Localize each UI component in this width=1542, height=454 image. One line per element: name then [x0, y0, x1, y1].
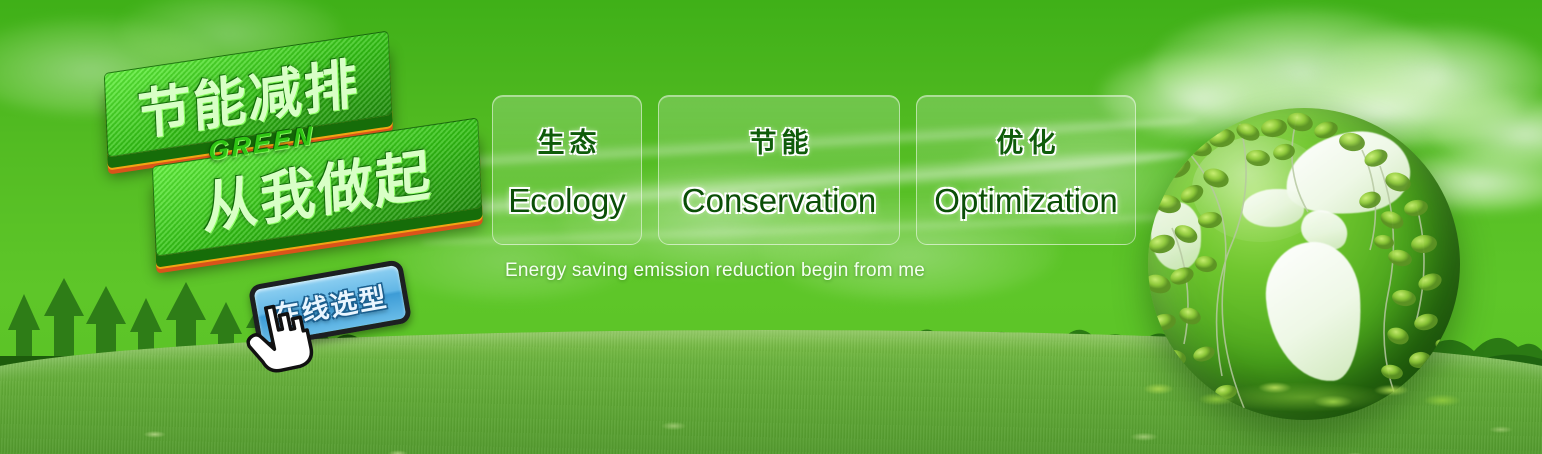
continent-north-america-west: [1242, 189, 1304, 226]
banner-tagline: Energy saving emission reduction begin f…: [505, 260, 925, 282]
leaf-pile-base: [1122, 362, 1486, 426]
headline-artwork: 节能减排 从我做起 GREEN: [96, 36, 488, 266]
feature-card-en-label: Optimization: [934, 182, 1117, 220]
feature-card-cn-label: 优化: [992, 121, 1061, 160]
continent-west-limb: [1151, 202, 1201, 271]
cta-button-label: 在线选型: [269, 275, 390, 334]
feature-card-ecology[interactable]: 生态 Ecology: [492, 95, 642, 245]
feature-card-en-label: Ecology: [508, 182, 625, 220]
online-selection-button[interactable]: 在线选型: [248, 259, 413, 349]
feature-card-cn-label: 节能: [745, 121, 814, 160]
feature-card-optimization[interactable]: 优化 Optimization: [916, 95, 1136, 245]
leaf-covered-earth-globe-icon: [1148, 108, 1460, 420]
online-selection-cta[interactable]: 在线选型: [252, 272, 422, 362]
feature-card-en-label: Conservation: [682, 182, 876, 220]
green-banner: 节能减排 从我做起 GREEN 在线选型 生态 Ecology 节能 Conse…: [0, 0, 1542, 454]
feature-card-list: 生态 Ecology 节能 Conservation 优化 Optimizati…: [492, 95, 1136, 245]
feature-card-conservation[interactable]: 节能 Conservation: [658, 95, 900, 245]
feature-card-cn-label: 生态: [533, 121, 602, 160]
